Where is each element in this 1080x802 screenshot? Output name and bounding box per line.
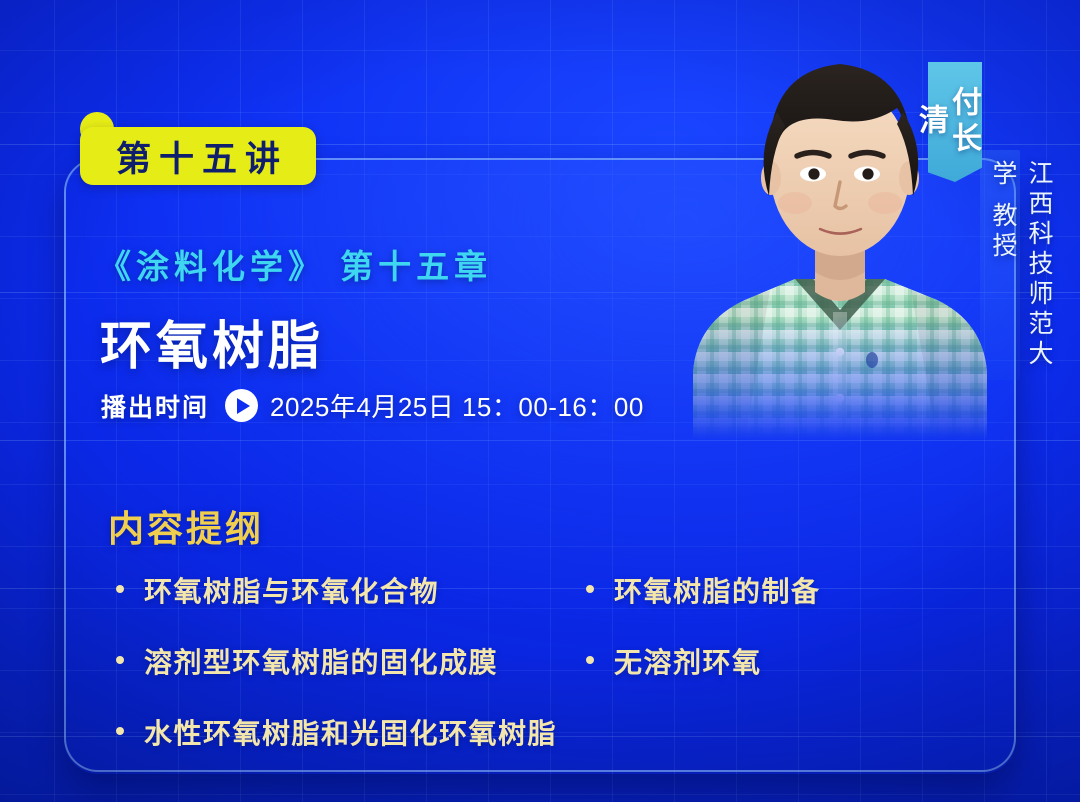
list-item: 环氧树脂与环氧化合物 [112,570,582,610]
lecture-number-badge: 第十五讲 [80,127,316,185]
outline-column-left: 环氧树脂与环氧化合物 溶剂型环氧树脂的固化成膜 水性环氧树脂和光固化环氧树脂 [112,570,582,783]
bullet-icon [116,656,124,664]
bullet-icon [116,727,124,735]
list-item-label: 无溶剂环氧 [614,641,762,681]
list-item: 环氧树脂的制备 [582,570,942,610]
airtime-row: 播出时间 2025年4月25日 15：00-16：00 [101,387,644,424]
presenter-affiliation: 江西科技师范大学 教授 [985,160,1057,370]
play-icon[interactable] [225,389,258,422]
presenter-name: 付长清 [930,72,980,172]
outline-column-right: 环氧树脂的制备 无溶剂环氧 [582,570,942,712]
list-item: 水性环氧树脂和光固化环氧树脂 [112,712,582,752]
list-item-label: 环氧树脂与环氧化合物 [144,570,439,610]
airtime-value: 2025年4月25日 15：00-16：00 [270,387,644,424]
lecture-poster: 第十五讲 《涂料化学》 第十五章 环氧树脂 播出时间 2025年4月25日 15… [0,0,1080,802]
airtime-label: 播出时间 [101,388,209,424]
bullet-icon [586,656,594,664]
list-item-label: 环氧树脂的制备 [614,570,821,610]
lecture-title: 环氧树脂 [100,304,324,379]
list-item-label: 水性环氧树脂和光固化环氧树脂 [144,712,557,752]
bullet-icon [116,585,124,593]
list-item: 溶剂型环氧树脂的固化成膜 [112,641,582,681]
outline-heading: 内容提纲 [108,500,264,552]
bullet-icon [586,585,594,593]
list-item: 无溶剂环氧 [582,641,942,681]
list-item-label: 溶剂型环氧树脂的固化成膜 [144,641,498,681]
course-subtitle: 《涂料化学》 第十五章 [98,240,492,288]
